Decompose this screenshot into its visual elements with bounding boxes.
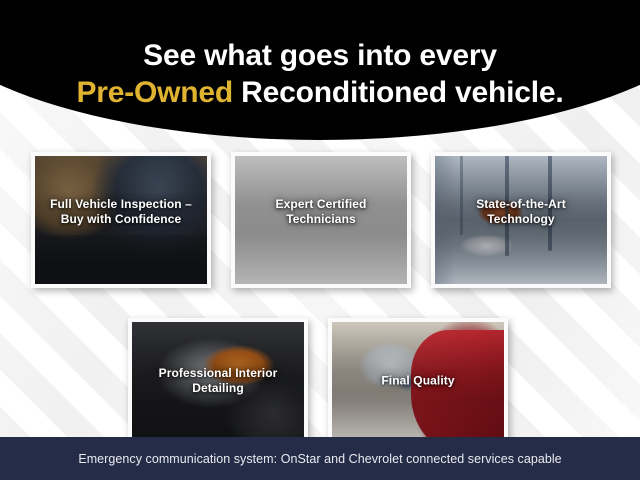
feature-card-expert-certified-technicians[interactable]: Expert Certified Technicians xyxy=(231,152,411,288)
feature-card-full-vehicle-inspection[interactable]: Full Vehicle Inspection – Buy with Confi… xyxy=(31,152,211,288)
card-caption-line-1: Expert Certified Technicians xyxy=(241,197,401,227)
footer-disclaimer-text: Emergency communication system: OnStar a… xyxy=(78,452,561,466)
feature-card-state-of-the-art-technology[interactable]: State-of-the-Art Technology xyxy=(431,152,611,288)
slide-canvas: See what goes into every Pre-Owned Recon… xyxy=(0,0,640,480)
footer-disclaimer-bar: Emergency communication system: OnStar a… xyxy=(0,437,640,480)
card-caption-line-2: Detailing xyxy=(138,381,298,396)
card-caption: Full Vehicle Inspection – Buy with Confi… xyxy=(35,197,207,227)
card-caption: State-of-the-Art Technology xyxy=(435,197,607,227)
card-caption: Expert Certified Technicians xyxy=(235,197,407,227)
feature-card-final-quality[interactable]: Final Quality xyxy=(328,318,508,454)
card-caption-line-1: Final Quality xyxy=(338,373,498,388)
feature-card-grid: Full Vehicle Inspection – Buy with Confi… xyxy=(0,0,640,480)
card-caption-line-1: State-of-the-Art Technology xyxy=(441,197,601,227)
card-caption: Professional Interior Detailing xyxy=(132,366,304,396)
card-caption-line-2: Buy with Confidence xyxy=(41,212,201,227)
card-caption-line-1: Full Vehicle Inspection – xyxy=(41,197,201,212)
card-caption: Final Quality xyxy=(332,373,504,388)
card-caption-line-1: Professional Interior xyxy=(138,366,298,381)
feature-card-professional-interior-detailing[interactable]: Professional Interior Detailing xyxy=(128,318,308,454)
